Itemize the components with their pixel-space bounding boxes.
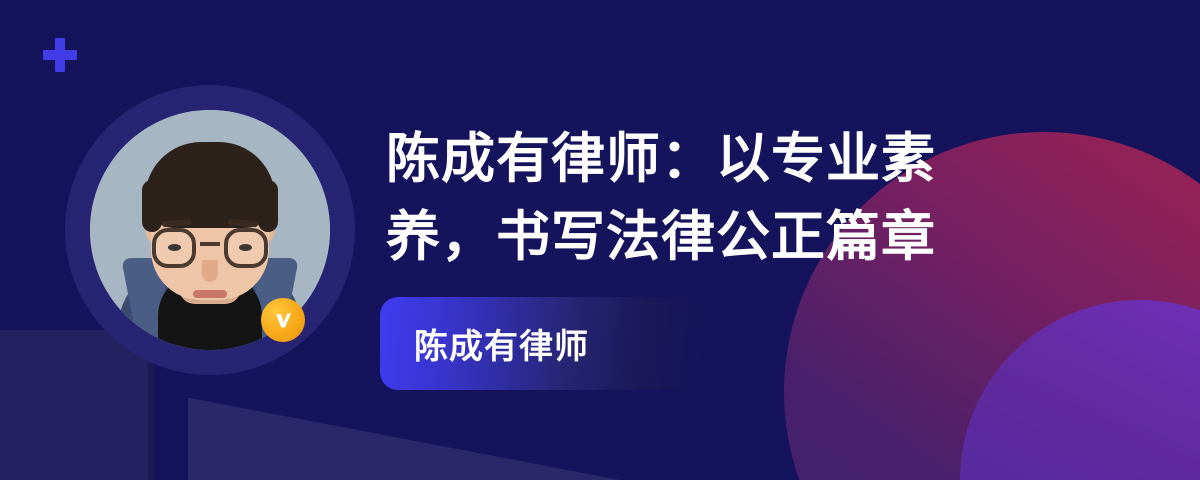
page-title: 陈成有律师：以专业素 养，书写法律公正篇章	[386, 120, 1026, 276]
headline-line-2: 养，书写法律公正篇章	[386, 198, 1026, 276]
lawyer-name-button[interactable]: 陈成有律师	[380, 297, 715, 390]
promo-banner: 陈成有律师：以专业素 养，书写法律公正篇章 陈成有律师	[0, 0, 1200, 480]
headline-line-1: 陈成有律师：以专业素	[386, 120, 1026, 198]
headline-block: 陈成有律师：以专业素 养，书写法律公正篇章	[386, 120, 1026, 276]
verified-badge-icon	[261, 298, 305, 342]
plus-icon	[43, 38, 77, 72]
avatar	[65, 85, 355, 415]
